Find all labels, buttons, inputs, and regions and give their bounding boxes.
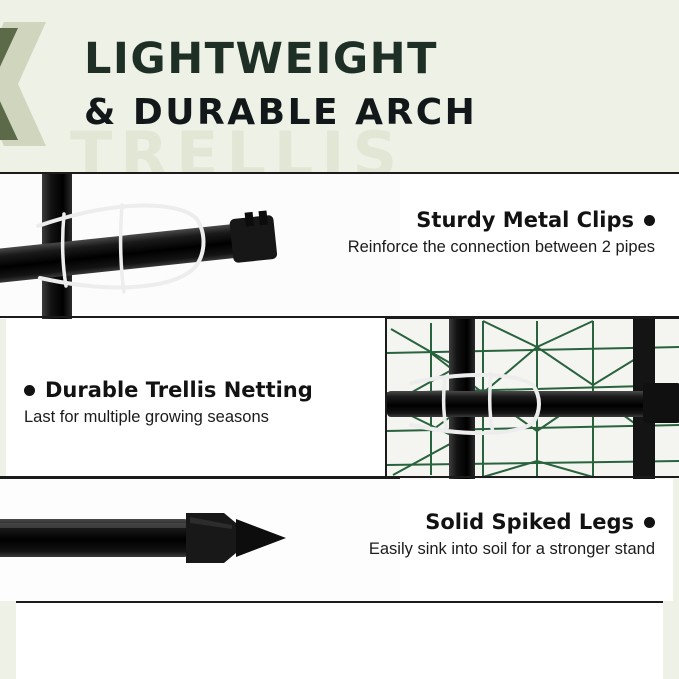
callout-heading-metal-clips: Sturdy Metal Clips [348, 208, 655, 232]
footer-strip [0, 601, 679, 679]
bullet-dot-icon [644, 517, 655, 528]
photo-panel-spiked-legs [0, 477, 400, 603]
metal-clip-illustration [0, 174, 400, 319]
chevron-decoration-icon [0, 22, 84, 152]
footer-right-tint [663, 601, 679, 679]
callout-heading-text: Sturdy Metal Clips [416, 208, 634, 232]
callout-subtext-spiked-legs: Easily sink into soil for a stronger sta… [369, 540, 655, 559]
bullet-dot-icon [24, 385, 35, 396]
callout-subtext-trellis-netting: Last for multiple growing seasons [24, 408, 313, 427]
trellis-netting-illustration [387, 319, 679, 479]
title-block: LIGHTWEIGHT & DURABLE ARCH [84, 34, 644, 136]
callout-trellis-netting: Durable Trellis Netting Last for multipl… [24, 378, 313, 427]
callout-heading-text: Solid Spiked Legs [425, 510, 634, 534]
photo-panel-metal-clips: Sturdy Metal Clips Reinforce the connect… [0, 172, 679, 319]
callout-spiked-legs: Solid Spiked Legs Easily sink into soil … [369, 510, 655, 559]
spiked-leg-illustration [0, 479, 400, 603]
title-line-2: & DURABLE ARCH [84, 90, 644, 136]
bullet-dot-icon [644, 215, 655, 226]
photo-panel-trellis-netting [385, 317, 679, 479]
callout-heading-spiked-legs: Solid Spiked Legs [369, 510, 655, 534]
callout-metal-clips: Sturdy Metal Clips Reinforce the connect… [348, 208, 655, 257]
footer-left-tint [0, 601, 16, 679]
product-feature-infographic: TRELLIS LIGHTWEIGHT & DURABLE ARCH [0, 0, 679, 679]
photo-metal-clips [0, 174, 400, 319]
callout-heading-text: Durable Trellis Netting [45, 378, 313, 402]
callout-subtext-metal-clips: Reinforce the connection between 2 pipes [348, 238, 655, 257]
header-banner: TRELLIS LIGHTWEIGHT & DURABLE ARCH [0, 0, 679, 172]
callout-heading-trellis-netting: Durable Trellis Netting [24, 378, 313, 402]
title-line-1: LIGHTWEIGHT [84, 34, 644, 84]
